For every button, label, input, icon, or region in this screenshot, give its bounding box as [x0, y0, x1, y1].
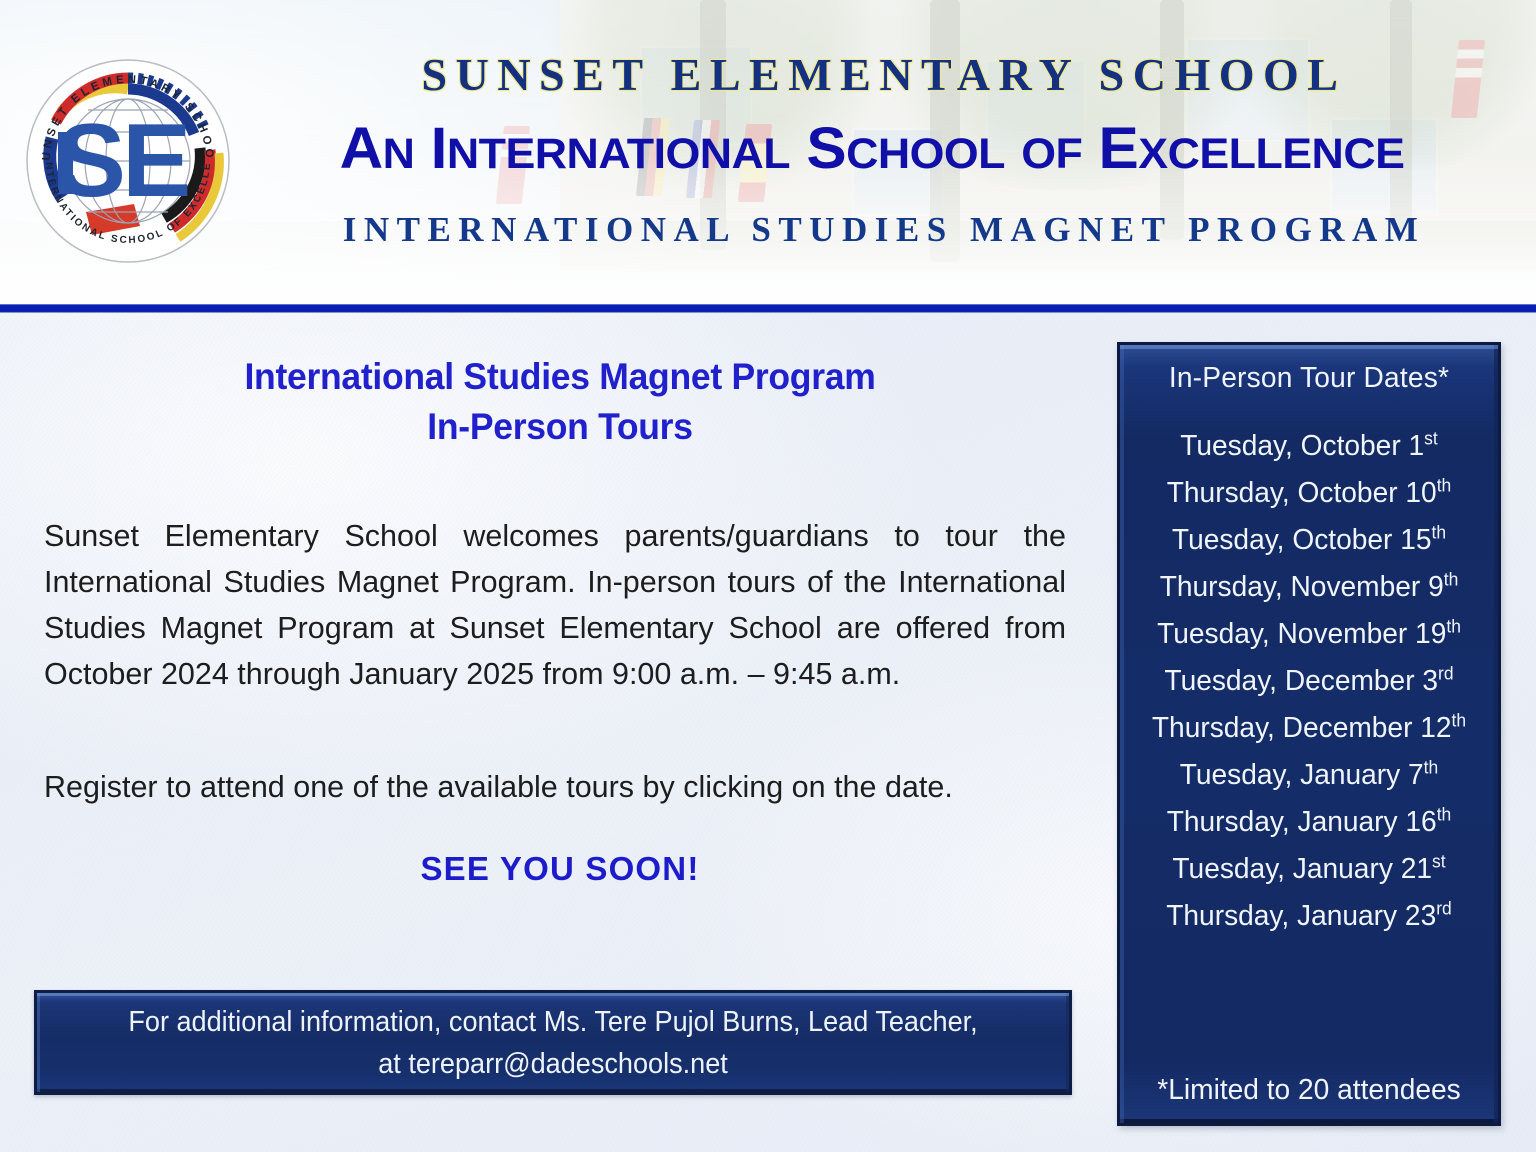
- tour-date-ordinal: rd: [1438, 663, 1454, 683]
- header-title-line3: INTERNATIONAL STUDIES MAGNET PROGRAM: [248, 210, 1520, 250]
- tour-date-label: Tuesday, October 15: [1172, 524, 1432, 556]
- tour-dates-list: Tuesday, October 1stThursday, October 10…: [1120, 423, 1498, 940]
- tour-date-item[interactable]: Thursday, January 23rd: [1126, 893, 1493, 940]
- contact-line-2[interactable]: at tereparr@dadeschools.net: [128, 1043, 977, 1085]
- tour-date-item[interactable]: Tuesday, November 19th: [1126, 611, 1493, 658]
- tour-date-ordinal: th: [1437, 804, 1452, 824]
- tour-date-ordinal: th: [1431, 522, 1446, 542]
- tour-date-item[interactable]: Thursday, October 10th: [1126, 470, 1493, 517]
- intro-paragraph: Sunset Elementary School welcomes parent…: [44, 513, 1066, 697]
- closing-message: SEE YOU SOON!: [40, 850, 1080, 888]
- tour-date-label: Thursday, January 16: [1167, 806, 1437, 838]
- header-divider: [0, 304, 1536, 313]
- tour-date-ordinal: th: [1444, 569, 1459, 589]
- tour-date-ordinal: rd: [1436, 898, 1452, 918]
- register-paragraph: Register to attend one of the available …: [44, 764, 1066, 810]
- tour-date-label: Thursday, November 9: [1160, 571, 1444, 603]
- tour-date-item[interactable]: Tuesday, January 21st: [1126, 846, 1493, 893]
- tour-dates-panel: In-Person Tour Dates* Tuesday, October 1…: [1117, 342, 1501, 1126]
- tour-date-item[interactable]: Thursday, January 16th: [1126, 799, 1493, 846]
- tour-dates-title: In-Person Tour Dates*: [1126, 359, 1493, 397]
- tour-date-label: Tuesday, January 21: [1172, 853, 1432, 885]
- tour-date-item[interactable]: Thursday, December 12th: [1126, 705, 1493, 752]
- tour-date-item[interactable]: Tuesday, October 1st: [1126, 423, 1493, 470]
- page-title-line2: In-Person Tours: [61, 402, 1059, 452]
- tour-date-item[interactable]: Thursday, November 9th: [1126, 564, 1493, 611]
- tour-date-ordinal: th: [1437, 475, 1452, 495]
- tour-date-ordinal: th: [1446, 616, 1461, 636]
- header-title-line2: AN INTERNATIONAL SCHOOL OF EXCELLENCE: [198, 120, 1536, 183]
- header-line2-text: AN INTERNATIONAL SCHOOL OF EXCELLENCE: [340, 116, 1405, 181]
- tour-date-item[interactable]: Tuesday, October 15th: [1126, 517, 1493, 564]
- contact-info-box: For additional information, contact Ms. …: [34, 990, 1072, 1095]
- header-title-line1: SUNSET ELEMENTARY SCHOOL: [248, 48, 1520, 101]
- contact-info-text: For additional information, contact Ms. …: [128, 1001, 977, 1085]
- tour-date-label: Tuesday, October 1: [1180, 430, 1424, 462]
- tour-date-ordinal: st: [1424, 428, 1438, 448]
- page-title-line1: International Studies Magnet Program: [61, 352, 1059, 402]
- tour-date-ordinal: st: [1432, 851, 1446, 871]
- tour-date-label: Thursday, January 23: [1166, 900, 1436, 932]
- header-banner: SE SUNSET ELEMENTARY SCHOOL AN INTERNATI…: [0, 0, 1536, 307]
- tour-date-ordinal: th: [1424, 757, 1439, 777]
- flyer-page: SE SUNSET ELEMENTARY SCHOOL AN INTERNATI…: [0, 0, 1536, 1152]
- tour-date-label: Tuesday, December 3: [1164, 665, 1438, 697]
- tour-date-label: Tuesday, November 19: [1157, 618, 1446, 650]
- tour-dates-note: *Limited to 20 attendees: [1126, 1074, 1493, 1107]
- tour-date-ordinal: th: [1452, 710, 1467, 730]
- tour-date-label: Thursday, October 10: [1167, 477, 1437, 509]
- contact-line-1: For additional information, contact Ms. …: [128, 1001, 977, 1043]
- page-title: International Studies Magnet Program In-…: [61, 352, 1059, 452]
- svg-text:SE: SE: [57, 103, 188, 219]
- tour-date-label: Tuesday, January 7: [1180, 759, 1424, 791]
- tour-date-label: Thursday, December 12: [1152, 712, 1452, 744]
- tour-date-item[interactable]: Tuesday, December 3rd: [1126, 658, 1493, 705]
- tour-date-item[interactable]: Tuesday, January 7th: [1126, 752, 1493, 799]
